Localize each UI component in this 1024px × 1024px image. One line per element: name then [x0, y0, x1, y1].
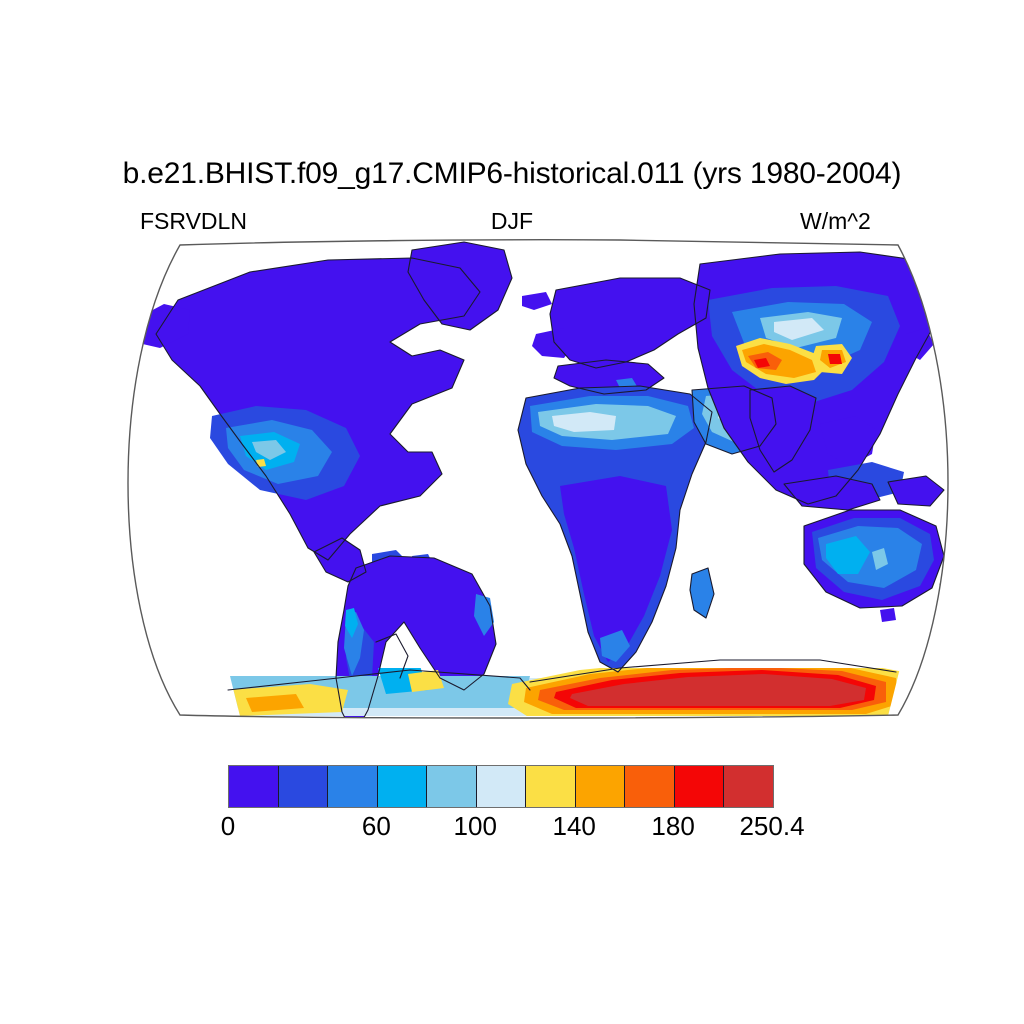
region-antarctica: [210, 582, 920, 718]
region-asia: [694, 252, 940, 504]
colorbar-tick-60: 60: [362, 810, 391, 842]
colorbar-segment-7[interactable]: [576, 766, 626, 807]
colorbar-tick-180: 180: [651, 810, 694, 842]
colorbar-segment-6[interactable]: [526, 766, 576, 807]
colorbar[interactable]: [228, 765, 774, 808]
colorbar-segment-2[interactable]: [328, 766, 378, 807]
colorbar-tick-100: 100: [454, 810, 497, 842]
region-africa: [518, 386, 714, 672]
colorbar-segment-4[interactable]: [427, 766, 477, 807]
colorbar-segment-8[interactable]: [625, 766, 675, 807]
colorbar-segment-9[interactable]: [675, 766, 725, 807]
page-title: b.e21.BHIST.f09_g17.CMIP6-historical.011…: [0, 157, 1024, 191]
region-europe: [532, 278, 710, 394]
colorbar-segment-10[interactable]: [724, 766, 773, 807]
colorbar-segment-3[interactable]: [378, 766, 428, 807]
data-field-layer: [130, 242, 960, 728]
units-label: W/m^2: [800, 207, 871, 235]
colorbar-segment-1[interactable]: [279, 766, 329, 807]
colorbar-tick-250.4: 250.4: [739, 810, 804, 842]
colorbar-segment-5[interactable]: [477, 766, 527, 807]
climate-map-figure: b.e21.BHIST.f09_g17.CMIP6-historical.011…: [0, 0, 1024, 1024]
colorbar-segment-0[interactable]: [229, 766, 279, 807]
colorbar-tick-labels: 060100140180250.4: [0, 810, 1024, 844]
colorbar-tick-140: 140: [552, 810, 595, 842]
world-map-plot: [60, 238, 964, 728]
region-north-america: [130, 258, 480, 582]
colorbar-tick-0: 0: [221, 810, 235, 842]
